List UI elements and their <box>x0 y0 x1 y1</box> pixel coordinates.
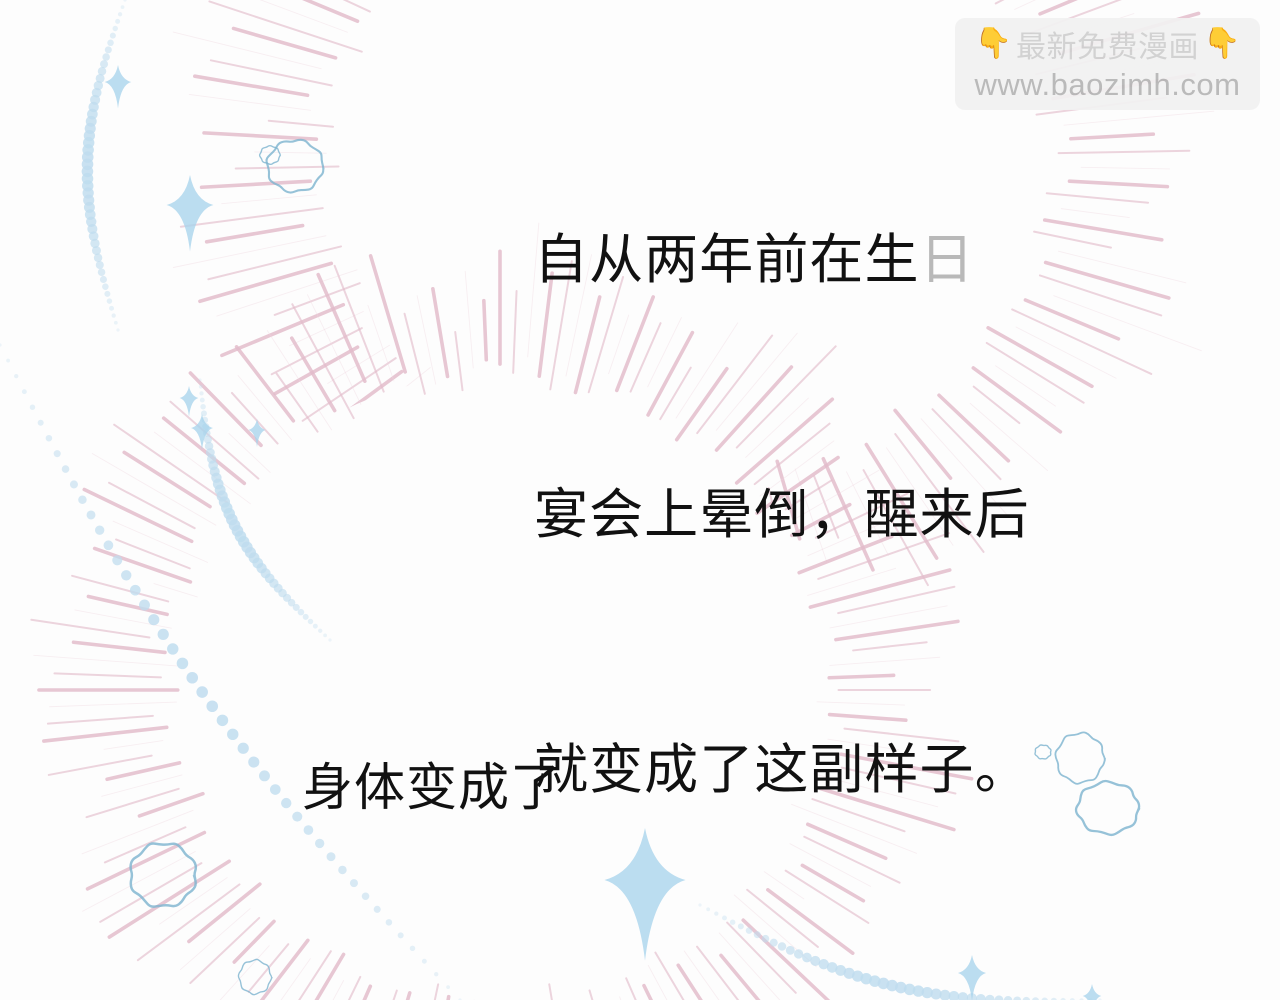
speech-line: 身体变成了 <box>302 741 562 835</box>
sparkle-icon <box>167 175 214 252</box>
bubble-outline-icon <box>260 146 281 165</box>
site-watermark: 👇 最新免费漫画 👇 www.baozimh.com <box>955 18 1260 110</box>
pointing-down-hand-icon-right: 👇 <box>1203 29 1240 59</box>
speech-line: 自从两年前在生日 <box>534 218 1030 303</box>
occluded-glyph: 日 <box>920 230 975 290</box>
bubble-outline-icon <box>131 843 196 906</box>
bubble-outline-icon <box>1055 732 1105 783</box>
bubble-outline-icon <box>238 959 272 994</box>
speech-line: 就变成了这副样子。 <box>534 728 1030 813</box>
speech-line: 宴会上晕倒，醒来后 <box>534 473 1030 558</box>
sparkle-icon <box>191 414 213 450</box>
watermark-url: www.baozimh.com <box>975 65 1241 105</box>
sparkle-icon <box>180 386 199 417</box>
pointing-down-hand-icon-left: 👇 <box>975 29 1012 59</box>
watermark-title: 最新免费漫画 <box>1016 22 1199 66</box>
watermark-title-row: 👇 最新免费漫画 👇 <box>955 23 1260 65</box>
speech-bubble-text-top: 自从两年前在生日 宴会上晕倒，醒来后 就变成了这副样子。 <box>534 48 1030 983</box>
sparkle-icon <box>105 65 132 108</box>
comic-panel: 自从两年前在生日 宴会上晕倒，醒来后 就变成了这副样子。 身体变成了 小猫人，也… <box>0 0 1280 1000</box>
sparkle-icon <box>1083 984 1102 1000</box>
bubble-outline-icon <box>1076 781 1140 835</box>
bubble-outline-icon <box>1035 745 1051 759</box>
trail-upper-left <box>82 0 127 332</box>
speech-bubble-text-bottom: 身体变成了 小猫人，也 不能说话。 <box>302 553 562 1000</box>
sparkle-icon <box>248 419 265 447</box>
bubble-outline-icon <box>267 140 324 193</box>
